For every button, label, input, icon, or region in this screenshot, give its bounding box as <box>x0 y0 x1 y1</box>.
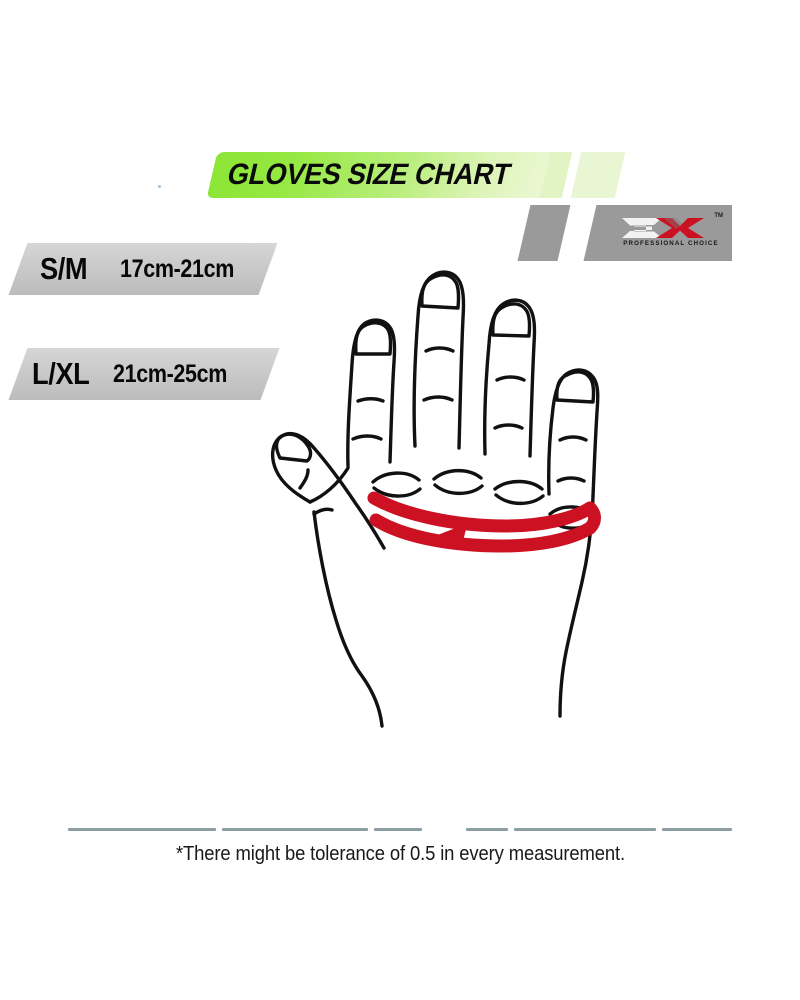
size-range: 21cm-25cm <box>113 360 227 389</box>
size-range: 17cm-21cm <box>120 255 234 284</box>
image-artifact-speck <box>158 185 161 188</box>
divider-segment <box>466 828 508 831</box>
divider-segment <box>374 828 422 831</box>
size-row-sm: S/M 17cm-21cm <box>18 243 268 295</box>
measure-band-icon <box>374 498 595 550</box>
size-row-content: S/M 17cm-21cm <box>18 243 268 295</box>
page-title-text: GLOVES SIZE CHART <box>223 155 514 195</box>
size-label: S/M <box>40 251 87 287</box>
page-title: GLOVES SIZE CHART <box>223 155 562 195</box>
trademark-icon: TM <box>714 213 723 219</box>
tolerance-note-text: *There might be tolerance of 0.5 in ever… <box>175 842 624 866</box>
divider-segment <box>662 828 732 831</box>
hand-illustration <box>252 196 652 736</box>
size-row-content: L/XL 21cm-25cm <box>18 348 270 400</box>
footer-divider <box>68 828 732 832</box>
gloves-size-chart-page: GLOVES SIZE CHART TM PROFESSIONAL CHOICE… <box>0 0 800 1000</box>
divider-segment <box>68 828 216 831</box>
divider-segment <box>514 828 656 831</box>
size-label: L/XL <box>32 356 89 392</box>
banner-stripe-2 <box>571 152 626 198</box>
hand-diagram-icon <box>252 196 652 736</box>
size-row-lxl: L/XL 21cm-25cm <box>18 348 270 400</box>
divider-segment <box>222 828 368 831</box>
tolerance-note: *There might be tolerance of 0.5 in ever… <box>0 842 800 866</box>
